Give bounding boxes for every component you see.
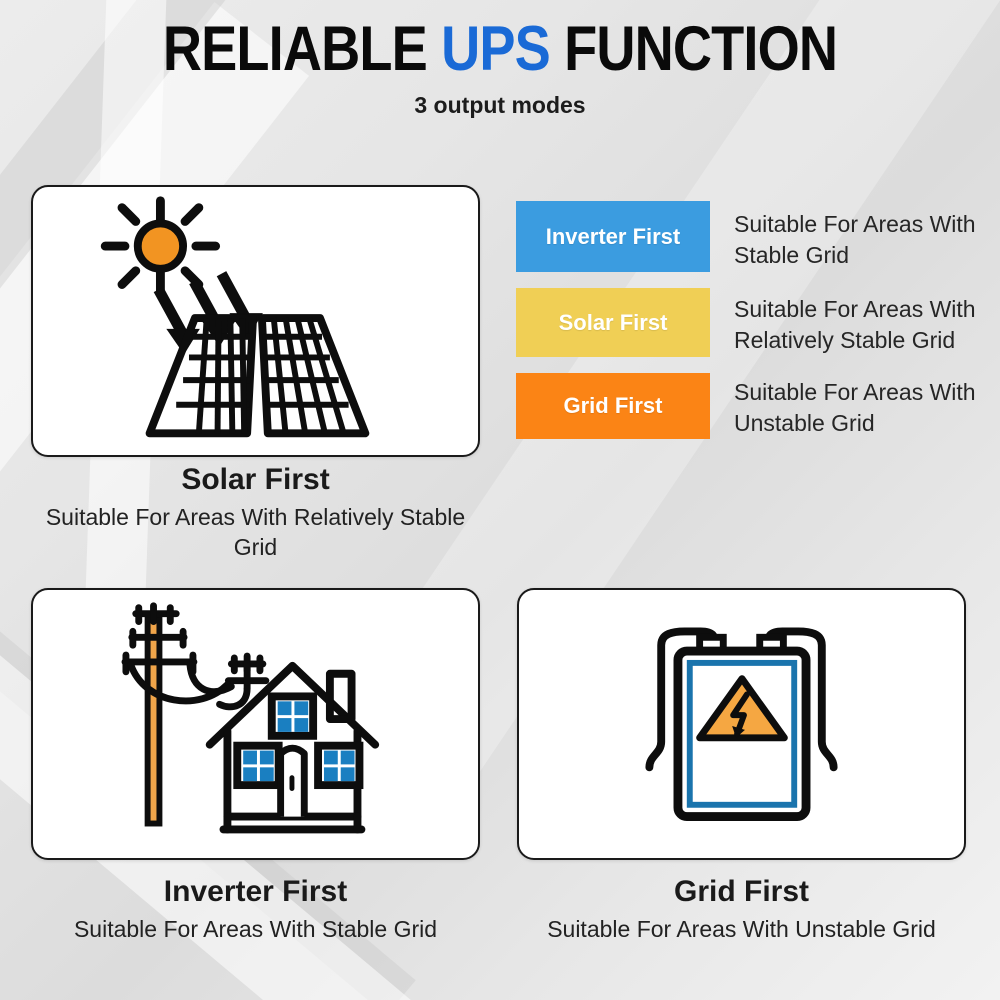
legend-output-modes: Inverter First Suitable For Areas With S… (516, 201, 986, 439)
caption-inverter-first: Inverter First Suitable For Areas With S… (31, 872, 480, 944)
page-title-part2: FUNCTION (550, 14, 837, 84)
legend-badge-grid-first[interactable]: Grid First (516, 373, 710, 439)
caption-description: Suitable For Areas With Relatively Stabl… (31, 502, 480, 562)
legend-badge-solar-first[interactable]: Solar First (516, 288, 710, 357)
legend-row-solar-first[interactable]: Solar First Suitable For Areas With Rela… (516, 288, 986, 357)
utility-pole-and-house-icon (33, 590, 478, 858)
card-grid-first[interactable] (517, 588, 966, 860)
caption-description: Suitable For Areas With Stable Grid (31, 914, 480, 944)
card-inverter-first[interactable] (31, 588, 480, 860)
page-title-highlight: UPS (441, 14, 550, 84)
legend-description: Suitable For Areas With Unstable Grid (734, 373, 986, 439)
caption-title: Grid First (517, 872, 966, 912)
legend-description: Suitable For Areas With Relatively Stabl… (734, 288, 986, 356)
card-solar-first[interactable] (31, 185, 480, 457)
page-subtitle: 3 output modes (0, 92, 1000, 119)
legend-badge-label: Grid First (563, 393, 662, 419)
solar-panels-with-sun-icon (33, 187, 478, 455)
page-title-part1: RELIABLE (163, 14, 441, 84)
caption-grid-first: Grid First Suitable For Areas With Unsta… (517, 872, 966, 944)
caption-title: Inverter First (31, 872, 480, 912)
header: RELIABLE UPS FUNCTION 3 output modes (0, 0, 1000, 119)
legend-badge-label: Inverter First (546, 224, 681, 250)
legend-badge-inverter-first[interactable]: Inverter First (516, 201, 710, 272)
page-title: RELIABLE UPS FUNCTION (70, 14, 930, 84)
caption-description: Suitable For Areas With Unstable Grid (517, 914, 966, 944)
legend-badge-label: Solar First (559, 310, 668, 336)
caption-title: Solar First (31, 460, 480, 500)
legend-row-inverter-first[interactable]: Inverter First Suitable For Areas With S… (516, 201, 986, 272)
legend-description: Suitable For Areas With Stable Grid (734, 201, 986, 271)
legend-row-grid-first[interactable]: Grid First Suitable For Areas With Unsta… (516, 373, 986, 439)
battery-high-voltage-icon (519, 590, 964, 858)
caption-solar-first: Solar First Suitable For Areas With Rela… (31, 460, 480, 562)
